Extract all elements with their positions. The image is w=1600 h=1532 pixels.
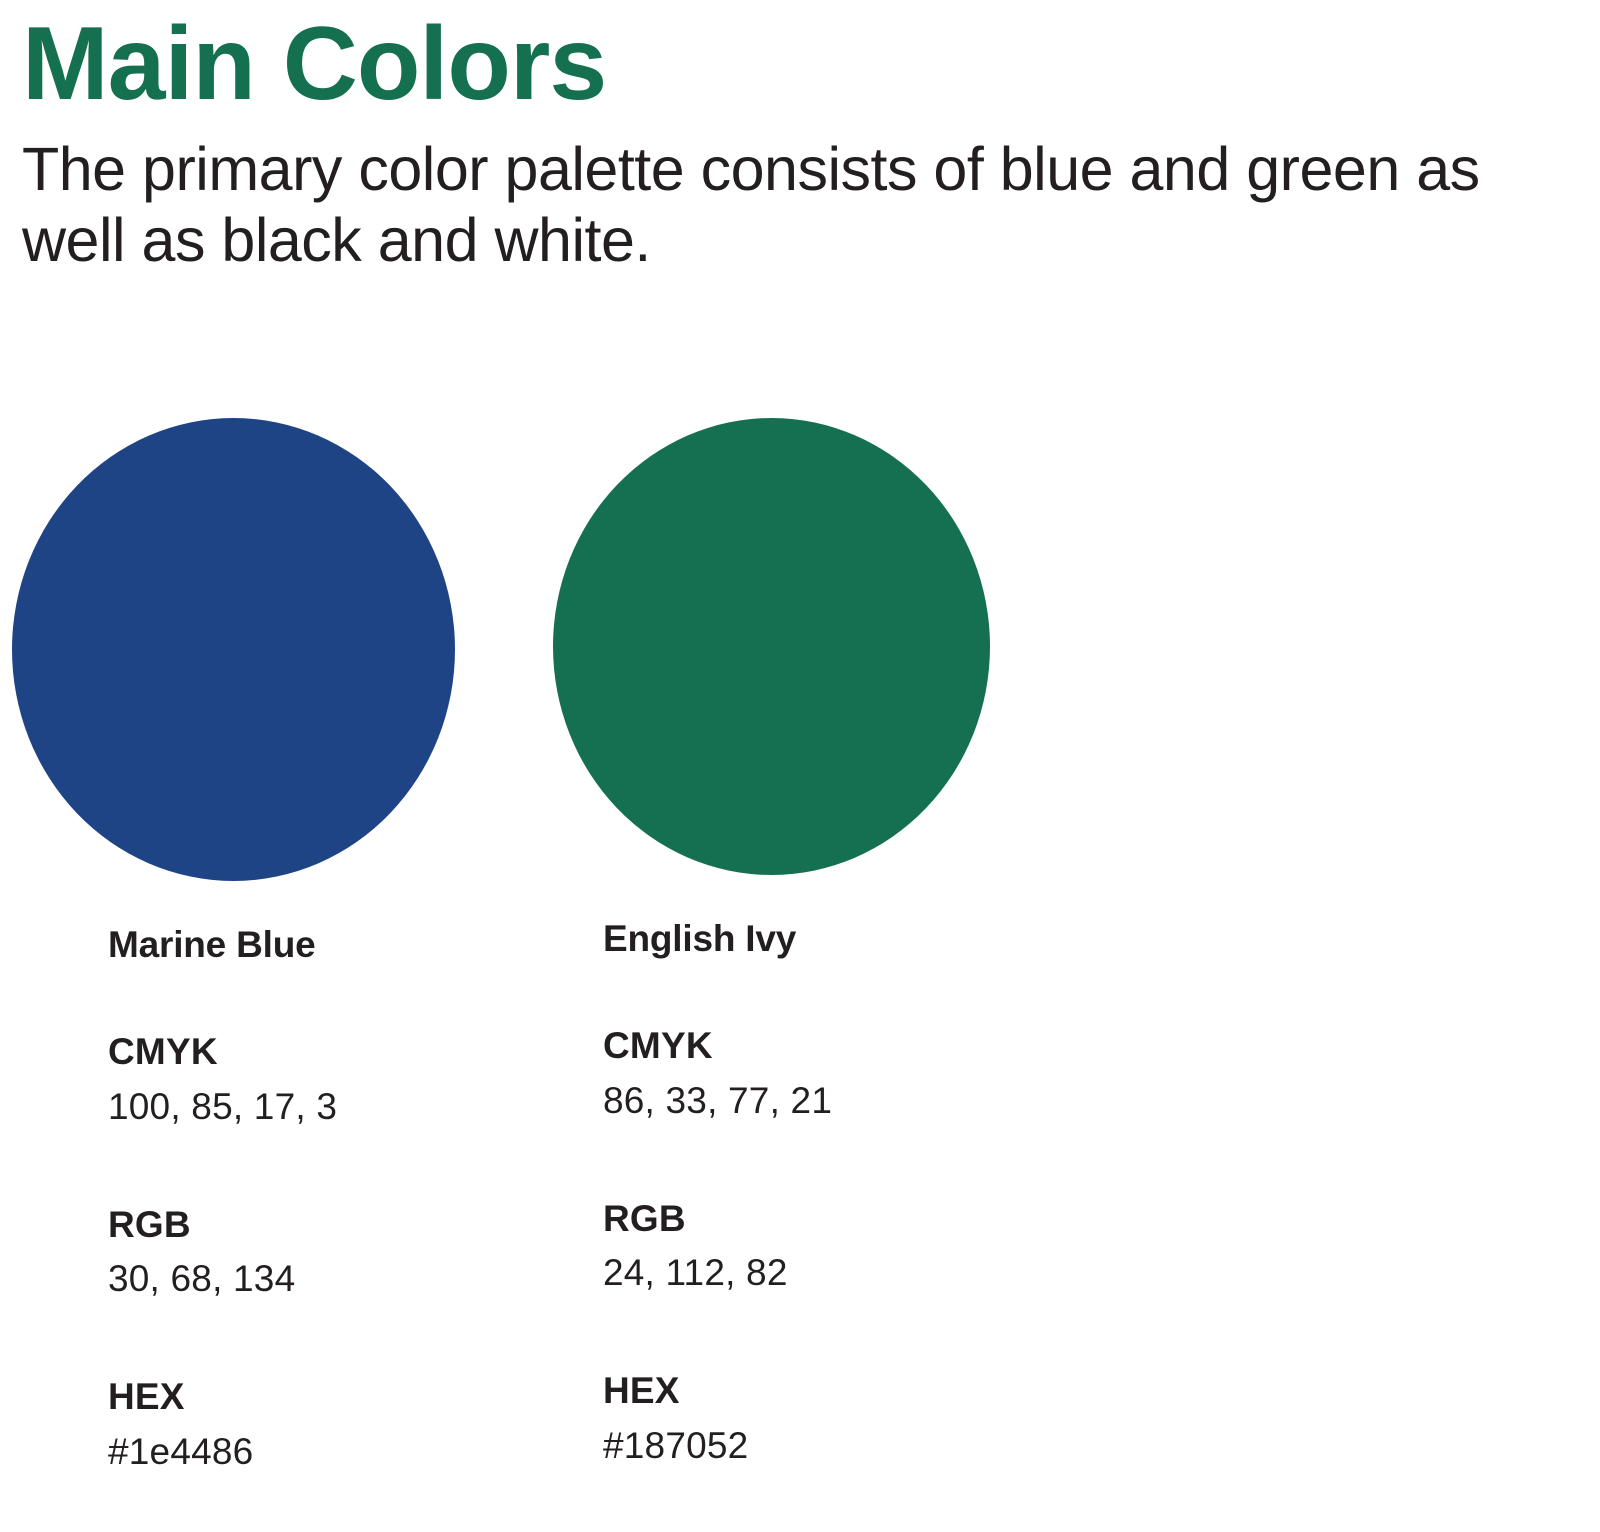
spec-label: RGB (603, 1196, 1023, 1242)
swatch-spec-list: CMYK 100, 85, 17, 3 RGB 30, 68, 134 HEX … (108, 1029, 482, 1475)
spec-label: RGB (108, 1202, 482, 1248)
spec-label: CMYK (603, 1023, 1023, 1069)
color-swatch-circle (553, 418, 990, 875)
spec-group-rgb: RGB 30, 68, 134 (108, 1202, 482, 1303)
spec-group-cmyk: CMYK 100, 85, 17, 3 (108, 1029, 482, 1130)
spec-group-hex: HEX #187052 (603, 1368, 1023, 1469)
spec-label: HEX (108, 1374, 482, 1420)
spec-value: 30, 68, 134 (108, 1256, 482, 1302)
color-swatch-circle (12, 418, 455, 881)
spec-group-cmyk: CMYK 86, 33, 77, 21 (603, 1023, 1023, 1124)
swatch-name: Marine Blue (108, 923, 482, 967)
spec-label: CMYK (108, 1029, 482, 1075)
page-title: Main Colors (22, 8, 1592, 120)
spec-value: #187052 (603, 1423, 1023, 1469)
spec-value: 100, 85, 17, 3 (108, 1084, 482, 1130)
spec-group-hex: HEX #1e4486 (108, 1374, 482, 1475)
spec-value: 24, 112, 82 (603, 1250, 1023, 1296)
heading-block: Main Colors The primary color palette co… (22, 8, 1592, 276)
swatch-spec-list: CMYK 86, 33, 77, 21 RGB 24, 112, 82 HEX … (603, 1023, 1023, 1469)
spec-value: 86, 33, 77, 21 (603, 1078, 1023, 1124)
swatch-card-marine-blue: Marine Blue CMYK 100, 85, 17, 3 RGB 30, … (12, 418, 482, 1475)
swatch-name: English Ivy (603, 917, 1023, 961)
swatch-card-english-ivy: English Ivy CMYK 86, 33, 77, 21 RGB 24, … (553, 418, 1023, 1469)
page-description: The primary color palette consists of bl… (22, 134, 1584, 276)
spec-value: #1e4486 (108, 1429, 482, 1475)
spec-group-rgb: RGB 24, 112, 82 (603, 1196, 1023, 1297)
color-palette-page: Main Colors The primary color palette co… (0, 0, 1600, 1532)
spec-label: HEX (603, 1368, 1023, 1414)
